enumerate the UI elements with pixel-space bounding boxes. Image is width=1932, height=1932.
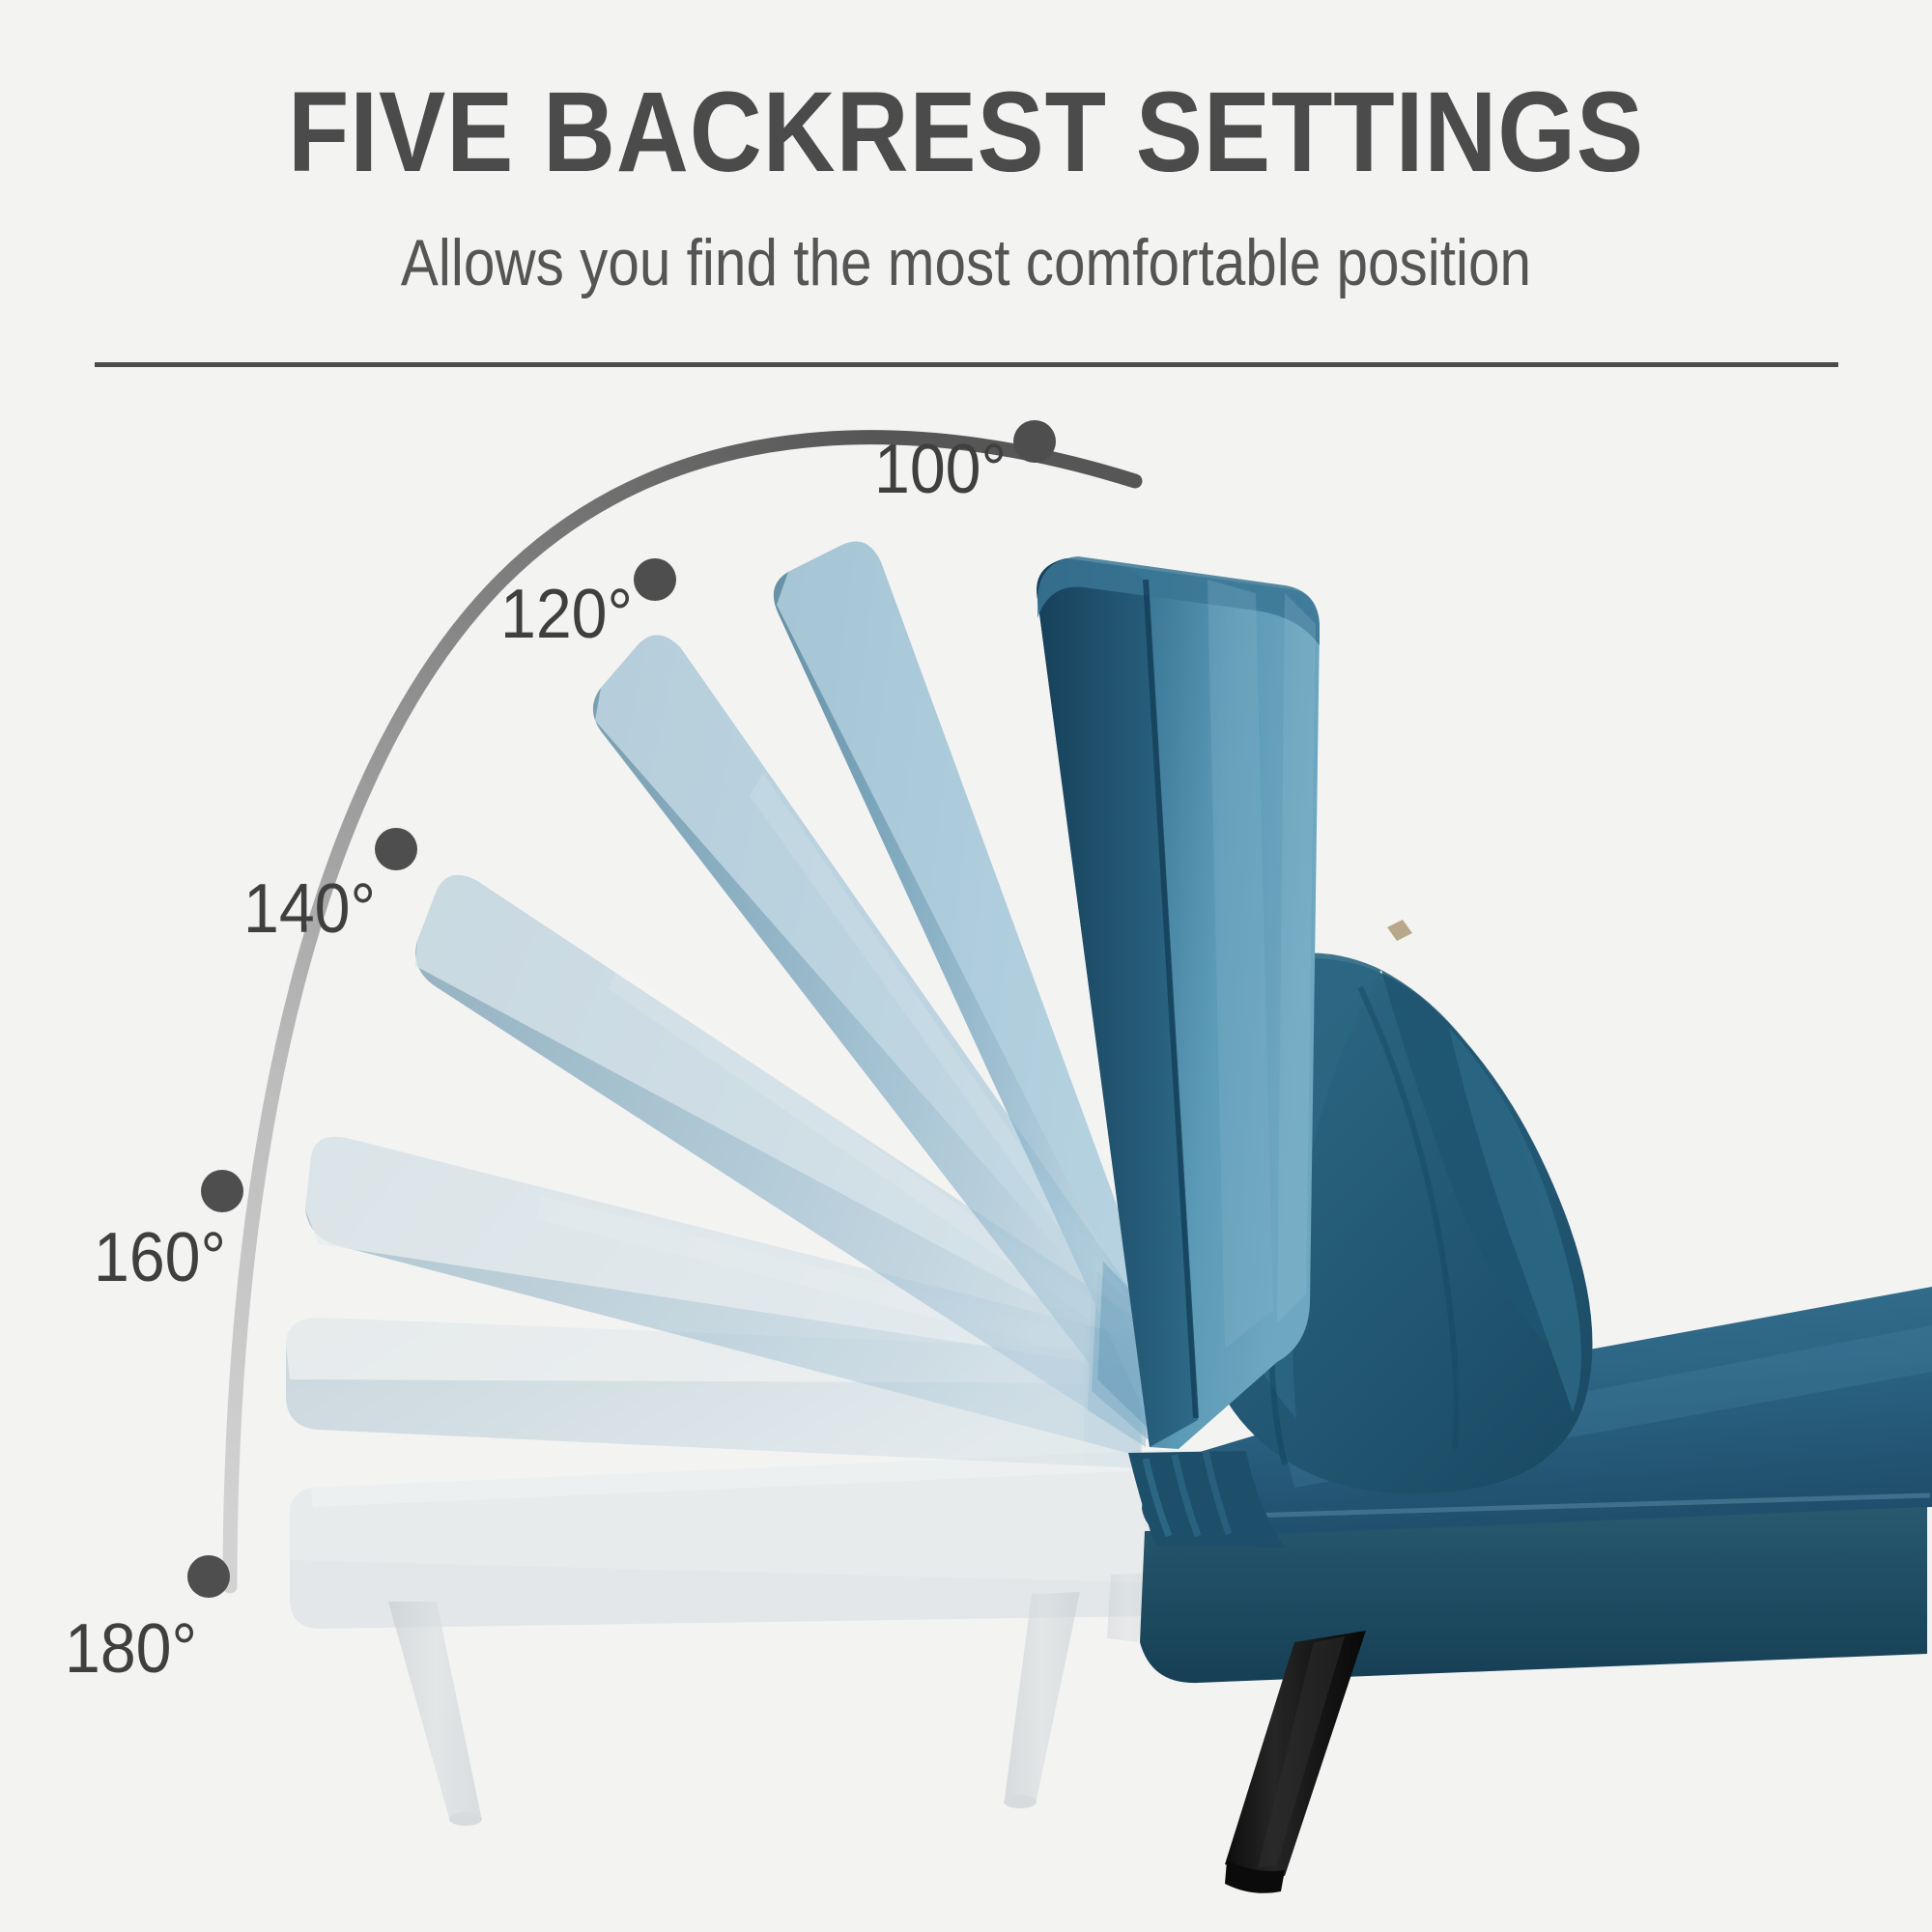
chair-seat	[1140, 1287, 1932, 1683]
angle-dot-140	[375, 828, 417, 870]
backrest-ghost-120	[593, 635, 1151, 1441]
backrest-ghost-140	[415, 875, 1148, 1447]
backrest-ghost-160	[305, 1137, 1142, 1457]
angle-label-160: 160°	[94, 1223, 226, 1293]
angle-dot-120	[634, 558, 676, 601]
angle-dot-100	[1013, 420, 1056, 463]
page-title: FIVE BACKREST SETTINGS	[116, 75, 1816, 189]
backrest-ghost-180	[286, 1318, 1140, 1468]
angle-label-180: 180°	[65, 1614, 197, 1684]
chair-leg-black	[1225, 1631, 1366, 1893]
ghost-legs	[388, 1573, 1150, 1826]
ghost-seat-base	[290, 1449, 1217, 1629]
angle-dot-180	[187, 1555, 230, 1598]
infographic-canvas: FIVE BACKREST SETTINGS Allows you find t…	[0, 0, 1932, 1932]
backrest-ghost-110	[774, 542, 1157, 1435]
angle-label-100: 100°	[874, 435, 1007, 504]
bolster-pillow	[1184, 920, 1592, 1493]
page-subtitle: Allows you find the most comfortable pos…	[135, 230, 1797, 296]
backrest-main	[1037, 556, 1320, 1449]
angle-label-120: 120°	[500, 580, 633, 649]
backrest-hinge-gather	[1128, 1451, 1285, 1548]
angle-dot-160	[201, 1170, 243, 1212]
angle-label-140: 140°	[243, 874, 376, 944]
header-divider	[95, 362, 1838, 367]
angle-arc	[230, 438, 1135, 1586]
